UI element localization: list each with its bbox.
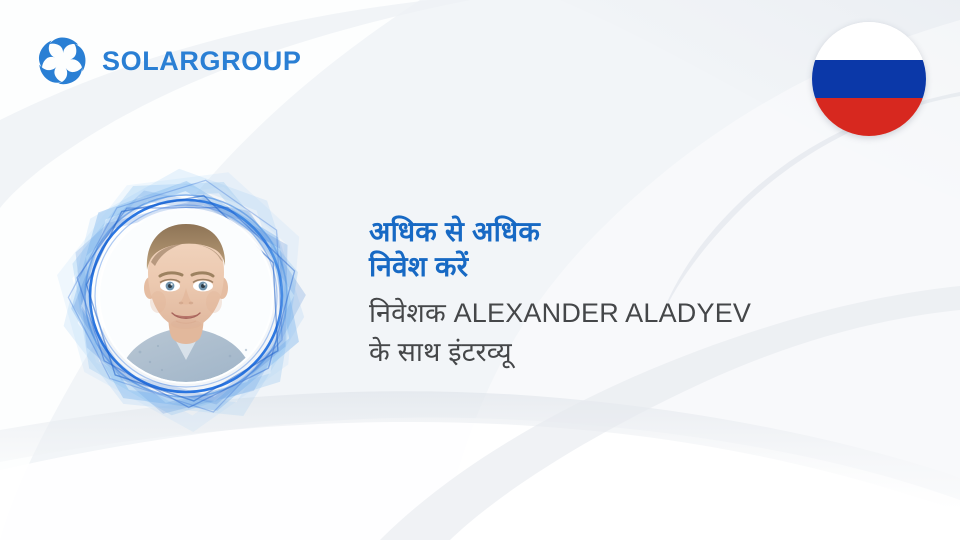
headline-line-1: अधिक से अधिक bbox=[369, 214, 889, 249]
brand-logo[interactable]: SOLARGROUP bbox=[34, 33, 302, 89]
solargroup-sunburst-icon bbox=[34, 33, 90, 89]
brand-wordmark: SOLARGROUP bbox=[102, 48, 302, 75]
russia-flag-badge bbox=[812, 22, 926, 136]
portrait-photo bbox=[100, 210, 272, 382]
portrait-illustration bbox=[100, 210, 272, 382]
subtitle-line-2: के साथ इंटरव्यू bbox=[369, 333, 889, 372]
text-block: अधिक से अधिक निवेश करें निवेशक ALEXANDER… bbox=[369, 214, 889, 372]
subtitle: निवेशक ALEXANDER ALADYEV के साथ इंटरव्यू bbox=[369, 294, 889, 372]
headline-line-2: निवेश करें bbox=[369, 249, 889, 284]
flag-stripe-blue bbox=[812, 60, 926, 98]
portrait-block bbox=[40, 150, 332, 442]
subtitle-line-1: निवेशक ALEXANDER ALADYEV bbox=[369, 294, 889, 333]
headline: अधिक से अधिक निवेश करें bbox=[369, 214, 889, 284]
slide-canvas: SOLARGROUP bbox=[0, 0, 960, 540]
